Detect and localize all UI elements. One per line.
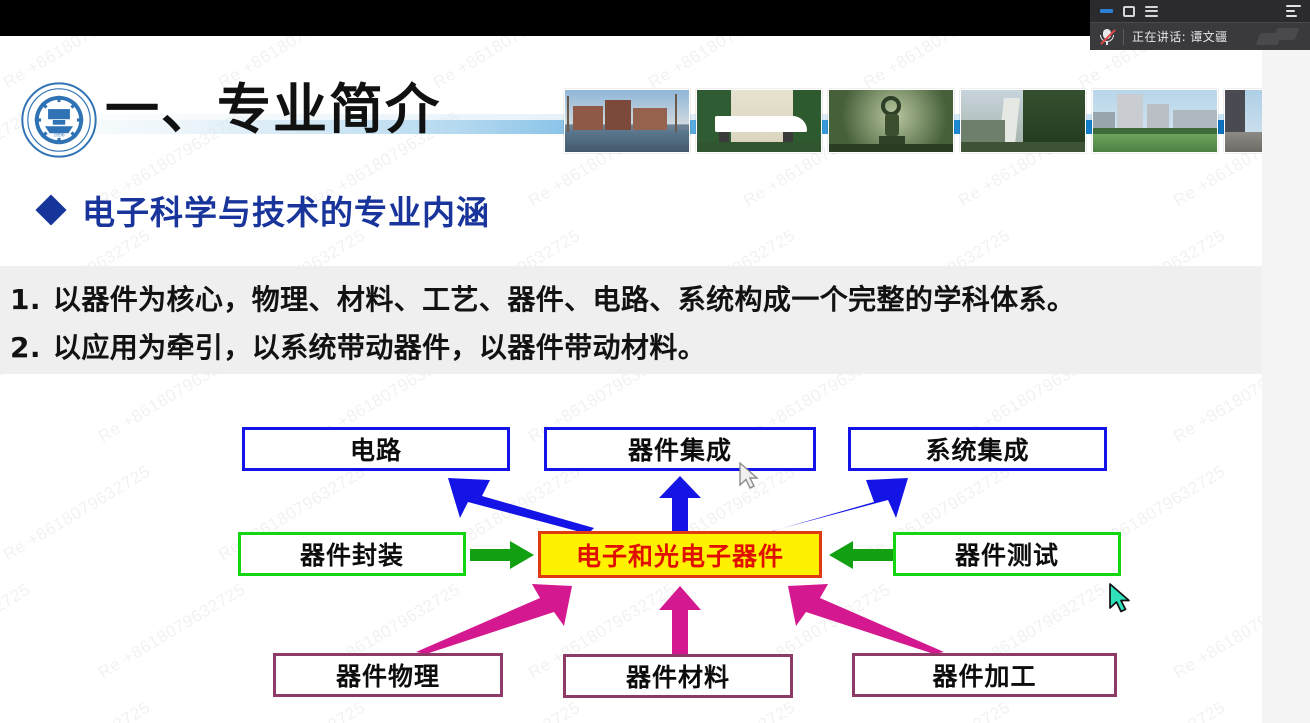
arrow-testing-to-core	[827, 539, 893, 571]
photo-campus-plaza-building	[1224, 89, 1262, 153]
speaking-label: 正在讲话:	[1132, 30, 1186, 44]
key-point-1: 1.以器件为核心，物理、材料、工艺、器件、电路、系统构成一个完整的学科体系。	[10, 278, 1075, 318]
photo-campus-monument-trees	[960, 89, 1086, 153]
university-logo-icon: 1896	[20, 81, 98, 159]
arrow-core-to-device-integration	[655, 474, 705, 532]
key-points-band: 1.以器件为核心，物理、材料、工艺、器件、电路、系统构成一个完整的学科体系。 2…	[0, 266, 1262, 374]
microphone-muted-icon[interactable]	[1099, 28, 1115, 46]
meeting-window-controls	[1090, 0, 1310, 22]
mouse-cursor-teal	[1108, 583, 1134, 617]
divider	[1123, 29, 1124, 45]
page-title: 一、专业简介	[105, 83, 441, 137]
photo-campus-lake-buildings	[564, 89, 690, 153]
slide-header: 1896 一、专业简介	[0, 36, 1262, 132]
minimize-icon[interactable]	[1100, 9, 1113, 13]
key-point-2-text: 以应用为牵引，以系统带动器件，以器件带动材料。	[53, 331, 706, 364]
subtitle-row: 电子科学与技术的专业内涵	[40, 186, 490, 234]
meeting-app-logo-icon	[1258, 26, 1304, 48]
meeting-speaker-row[interactable]: 正在讲话: 谭文疆	[1090, 22, 1310, 50]
right-background-strip	[1262, 36, 1310, 723]
hamburger-menu-icon[interactable]	[1145, 6, 1158, 17]
subtitle-text: 电子科学与技术的专业内涵	[82, 186, 490, 234]
photo-campus-sundial-monument	[828, 89, 954, 153]
svg-text:1896: 1896	[54, 132, 65, 138]
arrow-fabrication-to-core	[786, 582, 946, 654]
diagram-box-circuit[interactable]: 电路	[242, 427, 510, 471]
presentation-slide: Re +8618079632725Re +8618079632725Re +86…	[0, 36, 1262, 723]
diagram-box-device-materials[interactable]: 器件材料	[563, 654, 793, 698]
diagram-box-core-devices[interactable]: 电子和光电子器件	[538, 531, 822, 578]
diagram-box-device-fabrication[interactable]: 器件加工	[852, 653, 1117, 697]
arrow-core-to-system-integration	[760, 474, 910, 534]
diagram-box-system-integration[interactable]: 系统集成	[848, 427, 1107, 471]
mouse-cursor-gray	[738, 462, 762, 494]
meeting-overlay[interactable]: 正在讲话: 谭文疆	[1090, 0, 1310, 50]
photo-campus-gate-sign	[696, 89, 822, 153]
arrow-materials-to-core	[656, 584, 704, 654]
diamond-bullet-icon	[35, 194, 66, 225]
diagram-box-testing[interactable]: 器件测试	[893, 532, 1121, 576]
key-point-1-text: 以器件为核心，物理、材料、工艺、器件、电路、系统构成一个完整的学科体系。	[53, 283, 1075, 316]
screen: Re +8618079632725Re +8618079632725Re +86…	[0, 0, 1310, 723]
key-point-2-number: 2.	[10, 331, 41, 364]
key-point-2: 2.以应用为牵引，以系统带动器件，以器件带动材料。	[10, 326, 706, 366]
key-point-1-number: 1.	[10, 283, 41, 316]
arrow-core-to-circuit	[446, 474, 596, 534]
speaker-name: 谭文疆	[1190, 30, 1227, 44]
maximize-icon[interactable]	[1123, 6, 1135, 17]
photo-campus-highrise-field	[1092, 89, 1218, 153]
arrow-physics-to-core	[414, 582, 574, 654]
diagram-box-device-integration[interactable]: 器件集成	[544, 427, 816, 471]
discipline-structure-diagram: 电路 器件集成 系统集成 器件封装 电子和光电子器件 器件测试 器件物理 器件材…	[0, 386, 1262, 723]
diagram-box-packaging[interactable]: 器件封装	[238, 532, 466, 576]
campus-photo-strip	[564, 89, 1262, 153]
arrow-packaging-to-core	[470, 539, 536, 571]
speaking-status: 正在讲话: 谭文疆	[1132, 28, 1227, 45]
diagram-box-device-physics[interactable]: 器件物理	[273, 653, 503, 697]
panel-toggle-icon[interactable]	[1286, 5, 1301, 17]
